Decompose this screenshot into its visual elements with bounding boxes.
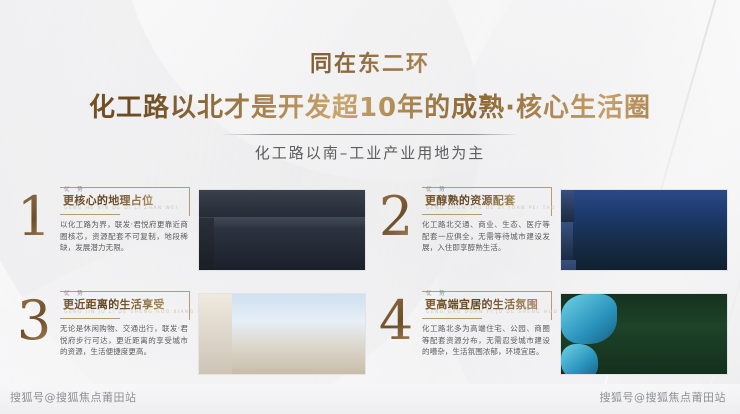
photo-building: [561, 260, 576, 271]
card-number: 2: [374, 185, 418, 279]
card-title-frame: 优 势 更醇熟的资源配套 GENG CHUN SHU DE ZI YUAN PE…: [422, 187, 552, 215]
photo-pool: [561, 344, 598, 375]
photo-building: [561, 222, 573, 260]
card-text-column: 优 势 更近距离的生活享受 GENG JIN JU LI DE SHENG HU…: [60, 289, 194, 383]
header-subtitle: 化工路以南–工业产业用地为主: [0, 142, 740, 163]
card-photo-night-waterfront-ferris-wheel: [198, 189, 366, 271]
photo-mall-block: [199, 294, 232, 374]
card-text-column: 优 势 更醇熟的资源配套 GENG CHUN SHU DE ZI YUAN PE…: [422, 185, 556, 279]
card-title-pinyin: GENG HE XIN DE DI LI ZHAN WEI: [64, 206, 178, 211]
header-divider: [221, 134, 519, 135]
card-body-text: 以化工路为界，联发·君悦府更靠近商圈核芯，资源配套不可复制，地段稀缺，发展潜力无…: [60, 219, 188, 254]
headline-secondary: 化工路以北才是开发超10年的成熟·核心生活圈: [0, 87, 740, 124]
card-title-pinyin: GENG CHUN SHU DE ZI YUAN PEI TAO: [426, 206, 556, 211]
photo-water: [199, 190, 365, 217]
advantage-card-1: 1 优 势 更核心的地理占位 GENG HE XIN DE DI LI ZHAN…: [12, 185, 366, 279]
watermark-left: 搜狐号@搜狐焦点莆田站: [10, 389, 137, 405]
watermark-right: 搜狐号@搜狐焦点莆田站: [600, 389, 727, 405]
card-body-text: 无论是休闲购物、交通出行，联发·君悦府步行可达，更近距离的享受城市的资源，生活便…: [60, 323, 188, 358]
headline-primary: 同在东二环: [0, 46, 740, 78]
photo-mall-shadow: [199, 374, 232, 375]
card-title-pinyin: GENG JIN JU LI DE SHENG HUO XIANG SHOU: [64, 310, 216, 315]
photo-building: [561, 190, 574, 222]
card-photo-blue-hour-skyline-interchange: [560, 189, 728, 271]
advantage-card-4: 4 优 势 更高端宜居的生活氛围 GENG GAO DUAN YI JU DE …: [374, 289, 728, 383]
card-photo-aerial-resort-pool-dusk: [560, 293, 728, 375]
card-number: 3: [12, 289, 56, 383]
card-body-text: 化工路北多为高端住宅、公园、商圈等配套资源分布，无需忍受城市建设的嘈杂，生活氛围…: [422, 323, 550, 358]
slide-canvas: 同在东二环 化工路以北才是开发超10年的成熟·核心生活圈 化工路以南–工业产业用…: [0, 0, 740, 414]
card-body-text: 化工路北交通、商业、生态、医疗等配套一应俱全，无需等待城市建设发展，入住即享醇熟…: [422, 219, 550, 254]
photo-tower: [199, 217, 214, 270]
card-photo-daytime-mall-plaza: [198, 293, 366, 375]
card-title-frame: 优 势 更高端宜居的生活氛围 GENG GAO DUAN YI JU DE SH…: [422, 291, 552, 319]
header-block: 同在东二环 化工路以北才是开发超10年的成熟·核心生活圈 化工路以南–工业产业用…: [0, 46, 740, 163]
card-text-column: 优 势 更核心的地理占位 GENG HE XIN DE DI LI ZHAN W…: [60, 185, 194, 279]
card-title-frame: 优 势 更近距离的生活享受 GENG JIN JU LI DE SHENG HU…: [60, 291, 190, 319]
advantage-card-2: 2 优 势 更醇熟的资源配套 GENG CHUN SHU DE ZI YUAN …: [374, 185, 728, 279]
photo-tower: [199, 270, 211, 271]
photo-pool: [561, 294, 617, 344]
card-number: 4: [374, 289, 418, 383]
advantage-card-grid: 1 优 势 更核心的地理占位 GENG HE XIN DE DI LI ZHAN…: [12, 185, 728, 383]
card-text-column: 优 势 更高端宜居的生活氛围 GENG GAO DUAN YI JU DE SH…: [422, 289, 556, 383]
advantage-card-3: 3 优 势 更近距离的生活享受 GENG JIN JU LI DE SHENG …: [12, 289, 366, 383]
card-number: 1: [12, 185, 56, 279]
card-title-frame: 优 势 更核心的地理占位 GENG HE XIN DE DI LI ZHAN W…: [60, 187, 190, 215]
